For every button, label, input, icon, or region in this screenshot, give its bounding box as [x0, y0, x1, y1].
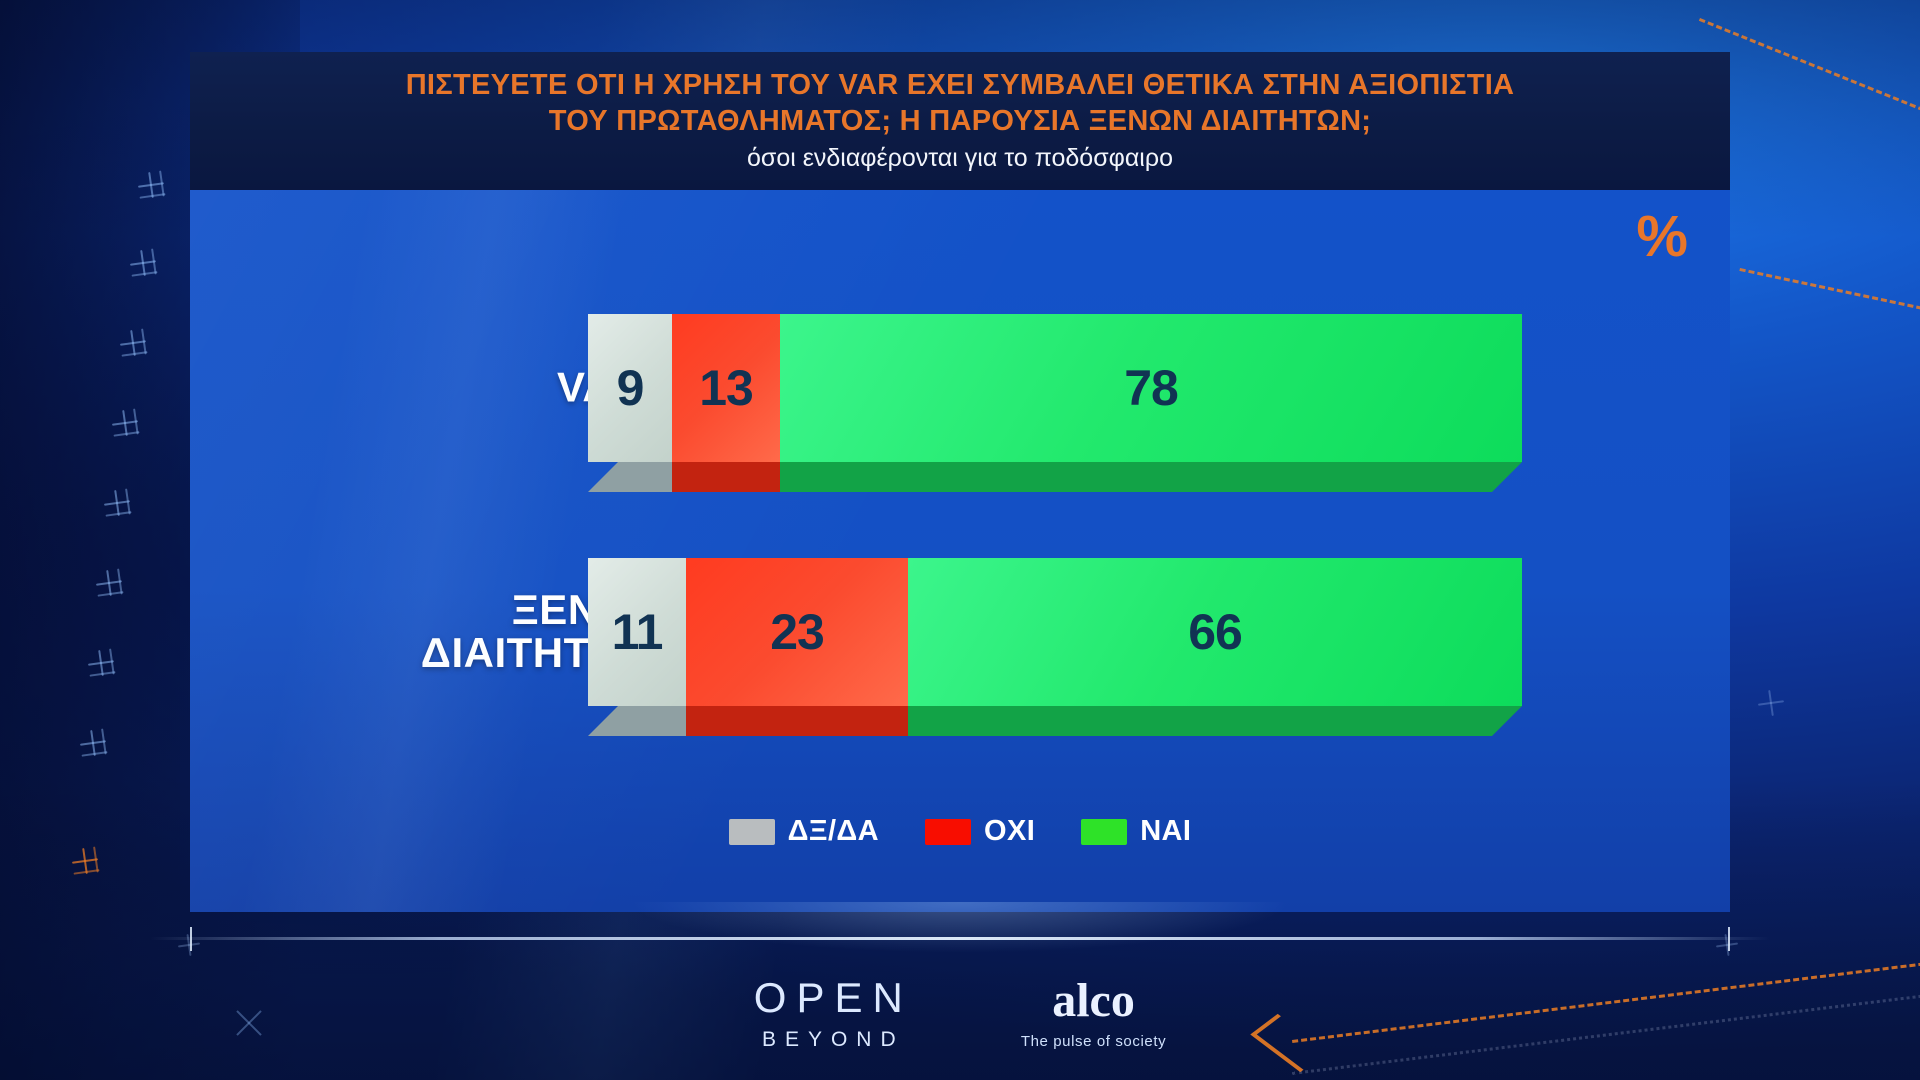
- segment-3d-base: [908, 706, 1522, 736]
- open-beyond-logo: OPEN BEYOND: [754, 977, 913, 1052]
- segment-3d-base: [672, 462, 780, 492]
- decor-plus-icon: [72, 848, 98, 874]
- bar-row-foreign-referees: ΞΕΝΟΙ ΔΙΑΙΤΗΤΕΣ 11 23 66: [190, 552, 1730, 712]
- legend-item-dk[interactable]: ΔΞ/ΔΑ: [729, 815, 879, 848]
- decor-plus-icon: [80, 730, 106, 756]
- legend-label-yes: ΝΑΙ: [1140, 815, 1191, 848]
- decor-plus-icon: [138, 172, 164, 198]
- alco-logo: alco The pulse of society: [1021, 977, 1166, 1050]
- legend-label-dk: ΔΞ/ΔΑ: [788, 815, 879, 848]
- chart-legend: ΔΞ/ΔΑ ΟΧΙ ΝΑΙ: [190, 815, 1730, 848]
- bar-segment-no-var[interactable]: 13: [672, 314, 780, 462]
- segment-3d-base: [686, 706, 908, 736]
- footer-logos: OPEN BEYOND alco The pulse of society: [0, 977, 1920, 1052]
- decor-plus-icon: [112, 410, 138, 436]
- decor-plus-icon: [104, 490, 130, 516]
- beyond-logo-word: BEYOND: [754, 1028, 913, 1052]
- decor-plus-icon: [88, 650, 114, 676]
- chart-title-line-1: ΠΙΣΤΕΥΕΤΕ ΟΤΙ Η ΧΡΗΣΗ ΤΟΥ VAR ΕΧΕΙ ΣΥΜΒΑ…: [218, 68, 1702, 104]
- segment-value-label: 9: [617, 359, 644, 417]
- bar-segment-no-foreign-referees[interactable]: 23: [686, 558, 908, 706]
- percent-symbol-label: %: [1636, 208, 1688, 266]
- legend-swatch-dk: [729, 819, 775, 845]
- chart-plot-area: % VAR 9 13 78: [190, 190, 1730, 912]
- open-logo-word: OPEN: [754, 977, 913, 1019]
- chart-subtitle: όσοι ενδιαφέρονται για το ποδόσφαιρο: [218, 143, 1702, 174]
- bar-segment-dk-foreign-referees[interactable]: 11: [588, 558, 686, 706]
- bar-label-foreign-referees: ΞΕΝΟΙ ΔΙΑΙΤΗΤΕΣ: [421, 589, 644, 675]
- legend-label-no: ΟΧΙ: [984, 815, 1035, 848]
- segment-value-label: 66: [1188, 603, 1242, 661]
- alco-logo-tagline: The pulse of society: [1021, 1033, 1166, 1050]
- legend-item-no[interactable]: ΟΧΙ: [925, 815, 1035, 848]
- decor-plus-icon: [120, 330, 146, 356]
- decor-plus-icon: [96, 570, 122, 596]
- bar-segment-dk-var[interactable]: 9: [588, 314, 672, 462]
- segment-3d-base: [780, 462, 1522, 492]
- footer-glow: [580, 902, 1340, 972]
- bar-segment-yes-foreign-referees[interactable]: 66: [908, 558, 1522, 706]
- legend-swatch-yes: [1081, 819, 1127, 845]
- segment-value-label: 11: [612, 603, 663, 661]
- decor-plus-icon: [1758, 690, 1784, 716]
- bar-track-foreign-referees: 11 23 66: [588, 558, 1522, 706]
- decor-plus-icon: [130, 250, 156, 276]
- chart-panel: ΠΙΣΤΕΥΕΤΕ ΟΤΙ Η ΧΡΗΣΗ ΤΟΥ VAR ΕΧΕΙ ΣΥΜΒΑ…: [190, 52, 1730, 912]
- chart-header: ΠΙΣΤΕΥΕΤΕ ΟΤΙ Η ΧΡΗΣΗ ΤΟΥ VAR ΕΧΕΙ ΣΥΜΒΑ…: [190, 52, 1730, 190]
- bar-track-var: 9 13 78: [588, 314, 1522, 462]
- chart-title-line-2: ΤΟΥ ΠΡΩΤΑΘΛΗΜΑΤΟΣ; Η ΠΑΡΟΥΣΙΑ ΞΕΝΩΝ ΔΙΑΙ…: [218, 104, 1702, 140]
- legend-swatch-no: [925, 819, 971, 845]
- alco-logo-word: alco: [1021, 977, 1166, 1025]
- legend-item-yes[interactable]: ΝΑΙ: [1081, 815, 1191, 848]
- bar-segment-yes-var[interactable]: 78: [780, 314, 1522, 462]
- segment-value-label: 23: [770, 603, 824, 661]
- segment-3d-base: [588, 706, 686, 736]
- bar-row-var: VAR 9 13 78: [190, 308, 1730, 468]
- segment-value-label: 13: [699, 359, 753, 417]
- segment-3d-base: [588, 462, 672, 492]
- segment-value-label: 78: [1124, 359, 1178, 417]
